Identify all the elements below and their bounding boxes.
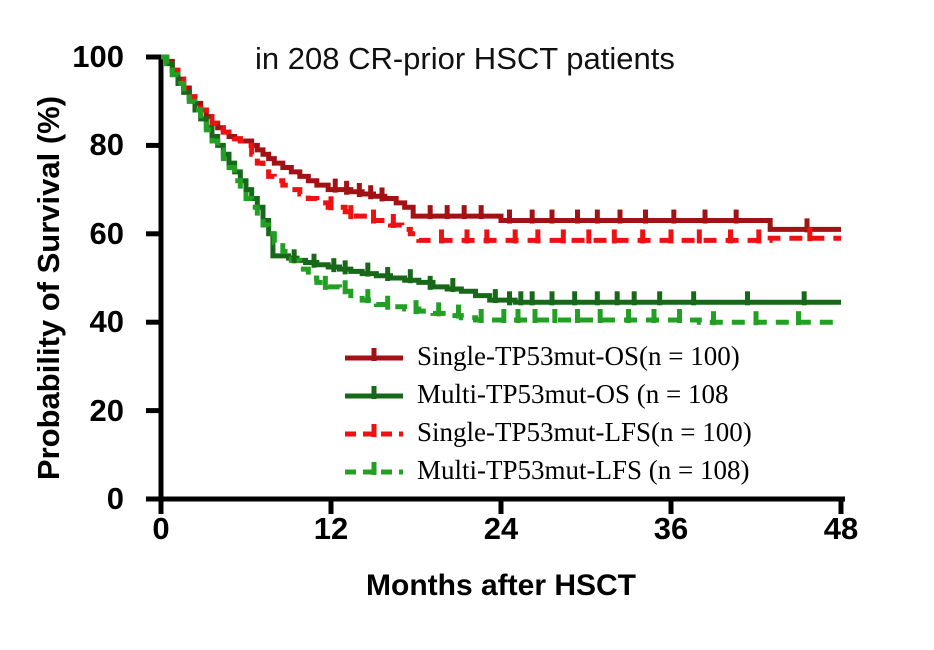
legend-item-3[interactable]: Multi-TP53mut-LFS (n = 108) [345,451,865,489]
y-tick-label-80: 80 [34,128,124,162]
legend-swatch-icon [345,419,403,445]
chart-title: in 208 CR-prior HSCT patients [255,40,795,78]
legend-item-label: Multi-TP53mut-LFS (n = 108) [417,455,750,485]
y-tick-label-60: 60 [34,217,124,251]
survival-chart-figure: Probability of Survival (%) Months after… [0,0,934,650]
legend-swatch-icon [345,457,403,483]
series-1 [161,57,841,302]
y-tick-label-40: 40 [34,305,124,339]
legend-item-label: Single-TP53mut-LFS(n = 100) [417,417,752,447]
x-tick-label-0: 0 [121,512,201,546]
x-axis-title: Months after HSCT [161,566,841,606]
x-tick-label-12: 12 [291,512,371,546]
x-tick-label-36: 36 [631,512,711,546]
legend-item-0[interactable]: Single-TP53mut-OS(n = 100) [345,337,865,375]
legend-item-2[interactable]: Single-TP53mut-LFS(n = 100) [345,413,865,451]
y-tick-label-20: 20 [34,394,124,428]
x-tick-label-48: 48 [801,512,881,546]
kaplan-meier-plot [0,0,934,650]
series-3 [161,57,841,322]
x-axis-tick-labels: 012243648 [0,512,934,552]
x-tick-label-24: 24 [461,512,541,546]
y-tick-label-100: 100 [34,40,124,74]
censor-marks-1 [294,249,804,305]
legend-swatch-icon [345,381,403,407]
y-tick-label-0: 0 [34,482,124,516]
chart-legend: Single-TP53mut-OS(n = 100)Multi-TP53mut-… [345,337,865,489]
legend-item-label: Multi-TP53mut-OS (n = 108 [417,379,729,409]
legend-item-label: Single-TP53mut-OS(n = 100) [417,341,740,371]
series-0 [161,57,841,229]
legend-swatch-icon [345,343,403,369]
legend-item-1[interactable]: Multi-TP53mut-OS (n = 108 [345,375,865,413]
y-axis-tick-labels: 100806040200 [34,0,124,650]
